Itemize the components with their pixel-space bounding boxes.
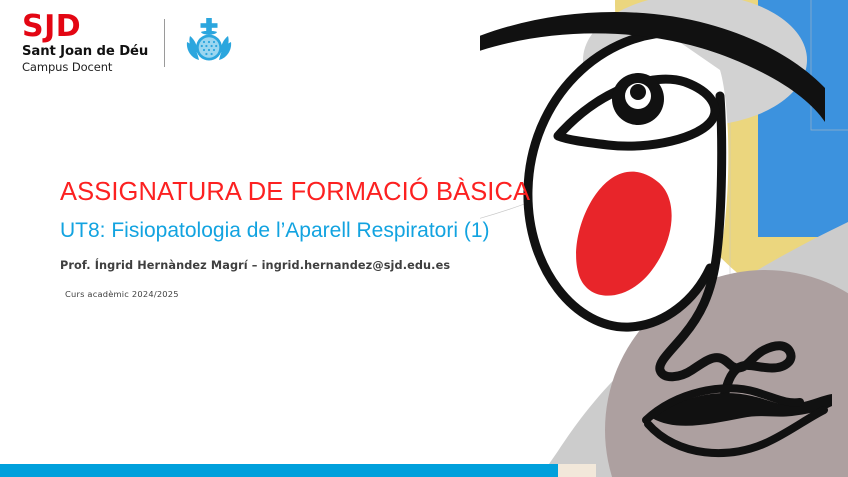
academic-year: Curs acadèmic 2024/2025 [65, 289, 530, 299]
pomegranate-cross-laurel-icon [185, 17, 233, 69]
bottom-accent-bar [0, 464, 848, 477]
unit-subtitle: UT8: Fisiopatologia de l’Aparell Respira… [60, 219, 530, 243]
logo-divider [164, 19, 165, 67]
logo-institution-name: Sant Joan de Déu [22, 44, 148, 61]
decorative-face-illustration [480, 0, 848, 477]
logo-wordmark: SJD Sant Joan de Déu Campus Docent [22, 12, 164, 74]
title-block: ASSIGNATURA DE FORMACIÓ BÀSICA UT8: Fisi… [60, 178, 530, 299]
slide-canvas: SJD Sant Joan de Déu Campus Docent [0, 0, 848, 477]
bottom-bar-cream-segment [558, 464, 596, 477]
page-title: ASSIGNATURA DE FORMACIÓ BÀSICA [60, 178, 530, 207]
bottom-bar-blue-segment [0, 464, 558, 477]
pupil-center [630, 84, 646, 100]
sjd-logo: SJD Sant Joan de Déu Campus Docent [22, 12, 233, 74]
logo-acronym: SJD [22, 12, 148, 43]
author-and-email: Prof. Íngrid Hernàndez Magrí – ingrid.he… [60, 259, 530, 272]
logo-campus-name: Campus Docent [22, 60, 148, 74]
